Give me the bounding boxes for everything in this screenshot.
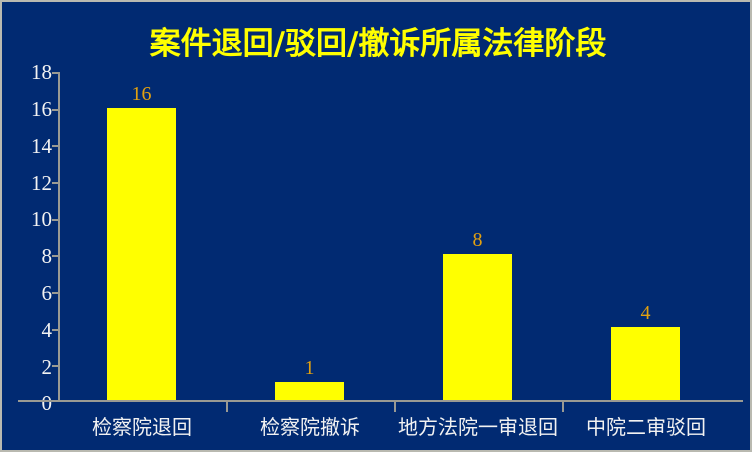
y-tick-label-16: 16 [10,99,52,120]
y-axis-line [58,72,60,402]
y-tick-label-10: 10 [10,209,52,230]
category-label-4: 中院二审驳回 [562,414,730,440]
category-label-3: 地方法院一审退回 [394,414,562,440]
bar-value-label-1: 16 [107,84,176,104]
bar-value-label-3: 8 [443,230,512,250]
bar-checha-yuan-tuihui [107,108,176,400]
bar-chart: 案件退回/驳回/撤诉所属法律阶段 18 16 14 12 10 8 6 4 2 … [0,0,752,452]
y-axis-tick-labels: 18 16 14 12 10 8 6 4 2 0 [2,2,52,452]
y-tick-label-12: 12 [10,173,52,194]
x-tick-mark-2 [394,402,396,412]
category-label-2: 检察院撤诉 [226,414,394,440]
y-tick-label-2: 2 [10,357,52,378]
y-tick-label-14: 14 [10,136,52,157]
y-tick-label-8: 8 [10,246,52,267]
category-label-1: 检察院退回 [58,414,226,440]
y-tick-label-0: 0 [10,393,52,414]
bar-value-label-4: 4 [611,303,680,323]
x-tick-mark-3 [562,402,564,412]
x-axis-line [18,400,743,402]
chart-title: 案件退回/驳回/撤诉所属法律阶段 [2,24,752,64]
y-tick-label-18: 18 [10,62,52,83]
bar-value-label-2: 1 [275,358,344,378]
y-tick-label-4: 4 [10,320,52,341]
x-tick-mark-1 [226,402,228,412]
y-tick-label-6: 6 [10,283,52,304]
bar-checha-yuan-chesu [275,382,344,400]
bar-difang-fayuan-yishen-tuihui [443,254,512,400]
bar-zhongyuan-ershen-bohui [611,327,680,400]
